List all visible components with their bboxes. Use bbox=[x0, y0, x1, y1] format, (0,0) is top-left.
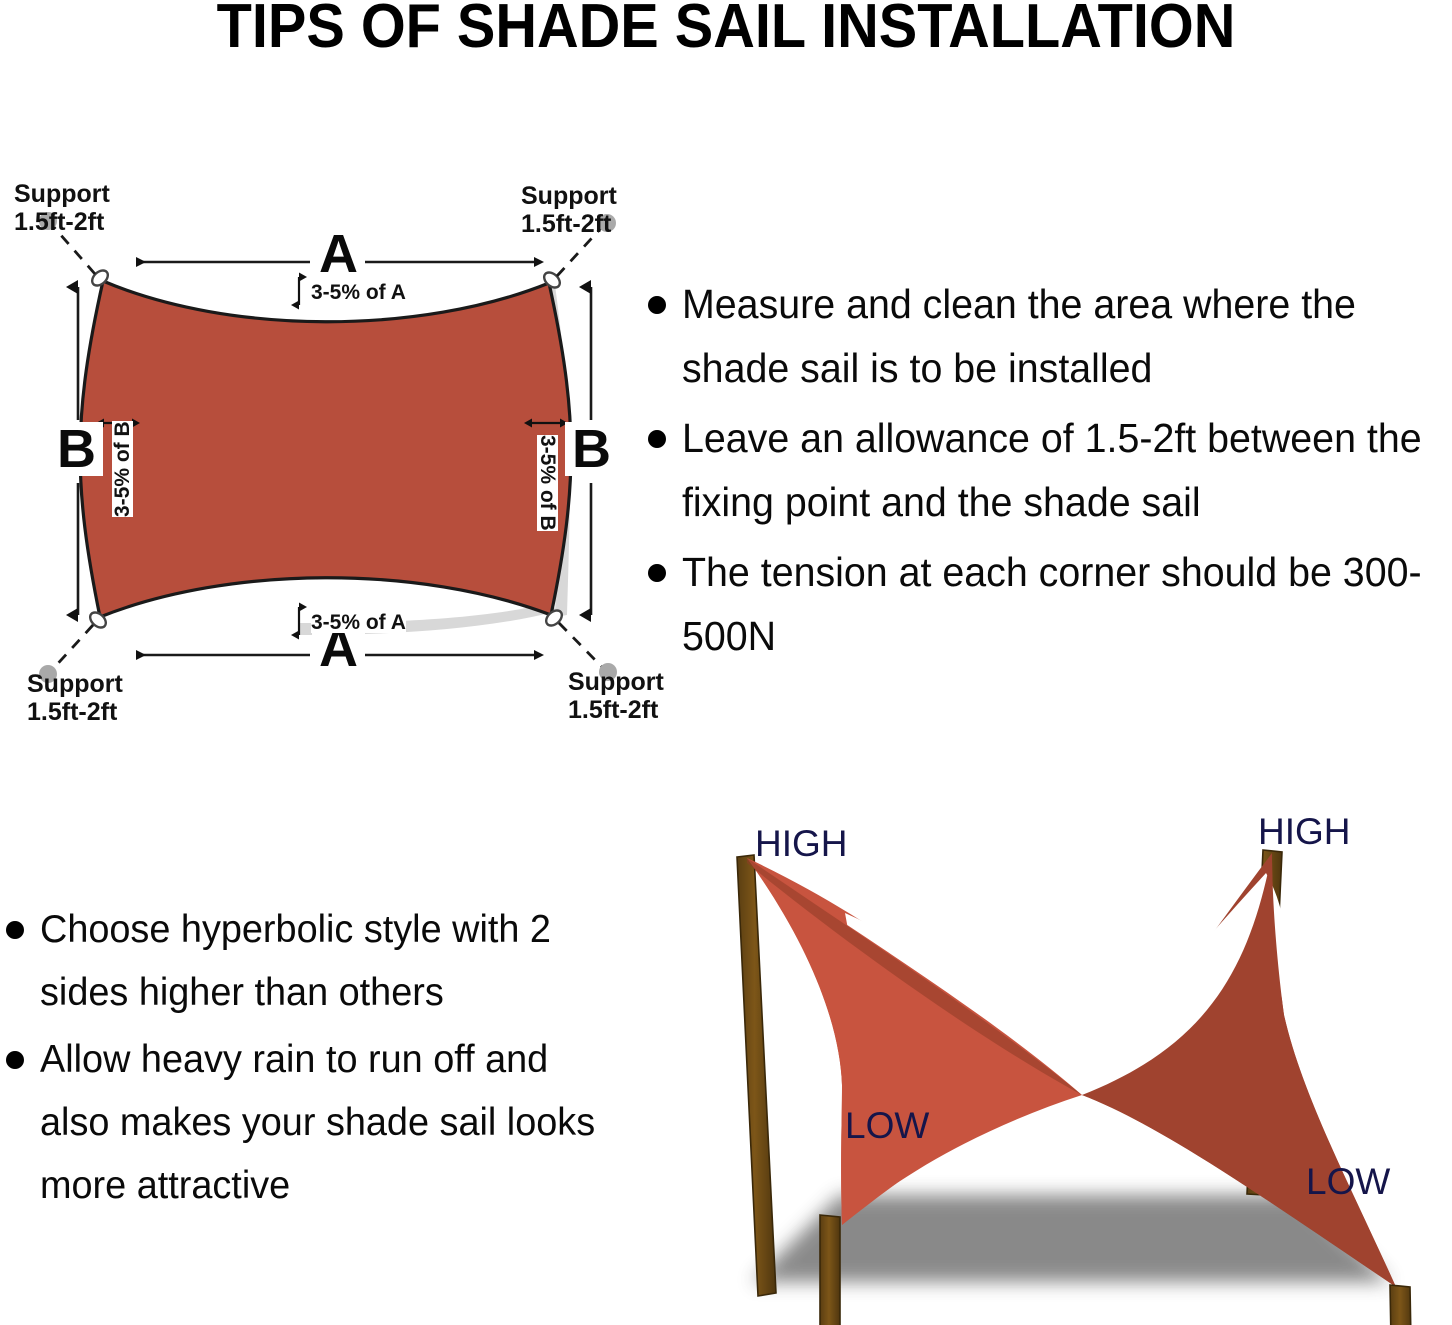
tips-list-left: Choose hyperbolic style with 2 sides hig… bbox=[6, 898, 626, 1221]
sag-label-top: 3-5% of A bbox=[311, 282, 406, 303]
hyperbolic-shade-sail-illustration: HIGH HIGH LOW LOW bbox=[690, 795, 1452, 1325]
tip-text: Allow heavy rain to run off and also mak… bbox=[40, 1028, 608, 1217]
label-high-right: HIGH bbox=[1258, 813, 1351, 850]
post-front-left bbox=[820, 1215, 840, 1325]
tip-text: Leave an allowance of 1.5-2ft between th… bbox=[682, 406, 1429, 534]
sag-label-right: 3-5% of B bbox=[537, 435, 558, 531]
sail-shape bbox=[80, 281, 571, 617]
post-rear-left bbox=[737, 855, 776, 1296]
list-item: Allow heavy rain to run off and also mak… bbox=[6, 1028, 626, 1217]
list-item: Choose hyperbolic style with 2 sides hig… bbox=[6, 898, 626, 1024]
label-low-left: LOW bbox=[845, 1107, 929, 1144]
page-title: TIPS OF SHADE SAIL INSTALLATION bbox=[51, 0, 1401, 59]
list-item: Leave an allowance of 1.5-2ft between th… bbox=[648, 406, 1452, 534]
bullet-dot-icon bbox=[648, 296, 666, 314]
hyperbolic-sail-svg bbox=[690, 795, 1452, 1325]
label-low-right: LOW bbox=[1306, 1163, 1390, 1200]
sag-label-bottom: 3-5% of A bbox=[311, 612, 406, 633]
rectangular-shade-sail-dimension-diagram: Support 1.5ft-2ft Support 1.5ft-2ft Supp… bbox=[0, 165, 660, 730]
tips-list-right: Measure and clean the area where the sha… bbox=[648, 272, 1452, 674]
tip-text: Measure and clean the area where the sha… bbox=[682, 272, 1429, 400]
post-front-right bbox=[1390, 1285, 1412, 1325]
tip-text: The tension at each corner should be 300… bbox=[682, 540, 1429, 668]
tip-text: Choose hyperbolic style with 2 sides hig… bbox=[40, 898, 608, 1024]
support-label-bottom-left: Support 1.5ft-2ft bbox=[27, 670, 123, 726]
dimension-label-b-right: B bbox=[565, 422, 618, 476]
support-label-bottom-right: Support 1.5ft-2ft bbox=[568, 668, 664, 724]
bullet-dot-icon bbox=[6, 1051, 24, 1069]
dimension-label-b-left: B bbox=[50, 422, 103, 476]
list-item: The tension at each corner should be 300… bbox=[648, 540, 1452, 668]
list-item: Measure and clean the area where the sha… bbox=[648, 272, 1452, 400]
dimension-label-a-top: A bbox=[312, 227, 365, 281]
sag-label-left: 3-5% of B bbox=[112, 421, 133, 517]
support-label-top-right: Support 1.5ft-2ft bbox=[521, 182, 617, 238]
bullet-dot-icon bbox=[648, 430, 666, 448]
bullet-dot-icon bbox=[648, 564, 666, 582]
support-label-top-left: Support 1.5ft-2ft bbox=[14, 180, 110, 236]
label-high-left: HIGH bbox=[755, 825, 848, 862]
bullet-dot-icon bbox=[6, 921, 24, 939]
